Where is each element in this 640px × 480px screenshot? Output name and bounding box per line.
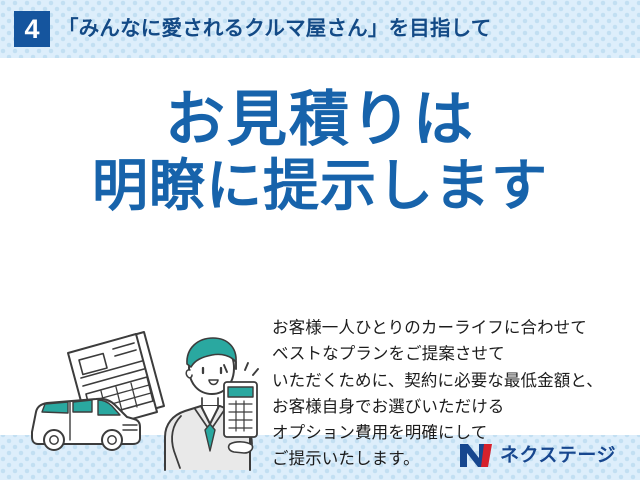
content-panel: お見積りは 明瞭に提示します お客様一人ひとりのカーライフに合わせて ベストなプ… [0, 58, 640, 435]
nextage-n-logo-icon [459, 443, 493, 468]
brand-name: ネクステージ [500, 443, 616, 468]
header-title: 「みんなに愛されるクルマ屋さん」を目指して [58, 13, 491, 45]
headline: お見積りは 明瞭に提示します [0, 86, 640, 220]
headline-line-2: 明瞭に提示します [0, 154, 640, 220]
body-line: お客様一人ひとりのカーライフに合わせて [272, 315, 622, 341]
header-band: 4 「みんなに愛されるクルマ屋さん」を目指して [0, 0, 640, 58]
step-number-badge: 4 [14, 11, 50, 47]
footer-brand-logo: ネクステージ [459, 443, 616, 468]
headline-line-1: お見積りは [0, 86, 640, 154]
illustration-salesman-quotation-van [24, 320, 274, 480]
calculator-icon [224, 382, 257, 437]
body-line: ベストなプランをご提案させて [272, 341, 622, 367]
body-line: いただくために、契約に必要な最低金額と、 [272, 368, 622, 394]
advertisement-banner: 4 「みんなに愛されるクルマ屋さん」を目指して お見積りは 明瞭に提示します お… [0, 0, 640, 480]
body-line: お客様自身でお選びいただける [272, 394, 622, 420]
